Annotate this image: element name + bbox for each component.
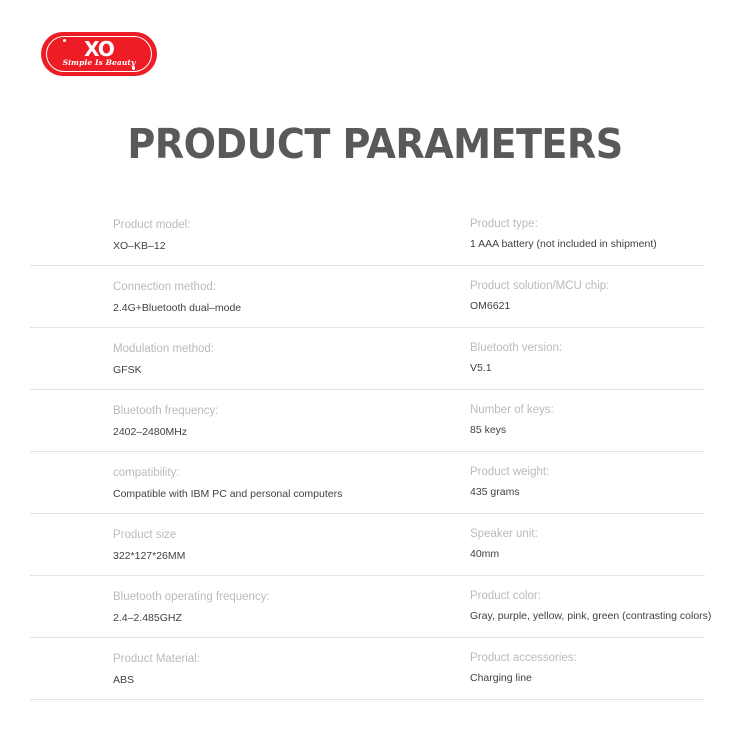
spec-cell-left: Product Material: ABS [113,638,463,687]
table-row: Bluetooth frequency: 2402–2480MHz Number… [30,390,705,452]
table-row: Product size 322*127*26MM Speaker unit: … [30,514,705,576]
spec-label: Speaker unit: [470,527,730,541]
spec-label: compatibility: [113,466,463,480]
table-row: compatibility: Compatible with IBM PC an… [30,452,705,514]
spec-value: Charging line [470,672,730,685]
spec-value: OM6621 [470,300,730,313]
spec-value: GFSK [113,364,463,377]
spec-cell-left: Connection method: 2.4G+Bluetooth dual–m… [113,266,463,315]
spec-label: Bluetooth operating frequency: [113,590,463,604]
brand-tagline: Simple Is Beauty [41,58,157,67]
spec-label: Product weight: [470,465,730,479]
spec-cell-left: Bluetooth frequency: 2402–2480MHz [113,390,463,439]
spec-value: 85 keys [470,424,730,437]
spec-label: Product color: [470,589,730,603]
spec-label: Product Material: [113,652,463,666]
spec-cell-right: Product weight: 435 grams [470,452,730,499]
spec-value: XO–KB–12 [113,240,463,253]
spec-label: Modulation method: [113,342,463,356]
spec-cell-left: Modulation method: GFSK [113,328,463,377]
spec-cell-right: Number of keys: 85 keys [470,390,730,437]
spec-value: V5.1 [470,362,730,375]
spec-cell-left: compatibility: Compatible with IBM PC an… [113,452,463,501]
table-row: Connection method: 2.4G+Bluetooth dual–m… [30,266,705,328]
spec-value: 40mm [470,548,730,561]
spec-label: Bluetooth frequency: [113,404,463,418]
spec-value: 322*127*26MM [113,550,463,563]
page-title: PRODUCT PARAMETERS [26,119,724,169]
spec-label: Product size [113,528,463,542]
spec-cell-left: Product model: XO–KB–12 [113,204,463,253]
brand-logo: XO Simple Is Beauty [41,32,157,76]
spec-cell-right: Speaker unit: 40mm [470,514,730,561]
spec-cell-left: Bluetooth operating frequency: 2.4–2.485… [113,576,463,625]
spec-label: Bluetooth version: [470,341,730,355]
spec-label: Connection method: [113,280,463,294]
table-row: Modulation method: GFSK Bluetooth versio… [30,328,705,390]
table-row: Product model: XO–KB–12 Product type: 1 … [30,204,705,266]
xo-wordmark-icon: XO [41,39,157,59]
spec-label: Number of keys: [470,403,730,417]
spec-label: Product solution/MCU chip: [470,279,730,293]
spec-cell-right: Product color: Gray, purple, yellow, pin… [470,576,730,623]
table-row: Product Material: ABS Product accessorie… [30,638,705,700]
table-row: Bluetooth operating frequency: 2.4–2.485… [30,576,705,638]
spec-table: Product model: XO–KB–12 Product type: 1 … [0,204,750,700]
spec-value: Gray, purple, yellow, pink, green (contr… [470,610,730,623]
spec-cell-right: Product accessories: Charging line [470,638,730,685]
spec-label: Product accessories: [470,651,730,665]
spec-value: 1 AAA battery (not included in shipment) [470,238,730,251]
spec-value: 2.4–2.485GHZ [113,612,463,625]
spec-cell-left: Product size 322*127*26MM [113,514,463,563]
spec-label: Product type: [470,217,730,231]
spec-value: Compatible with IBM PC and personal comp… [113,488,463,501]
spec-label: Product model: [113,218,463,232]
spec-value: 2.4G+Bluetooth dual–mode [113,302,463,315]
spec-cell-right: Bluetooth version: V5.1 [470,328,730,375]
spec-cell-right: Product solution/MCU chip: OM6621 [470,266,730,313]
spec-value: 2402–2480MHz [113,426,463,439]
spec-value: 435 grams [470,486,730,499]
spec-value: ABS [113,674,463,687]
spec-cell-right: Product type: 1 AAA battery (not include… [470,204,730,251]
